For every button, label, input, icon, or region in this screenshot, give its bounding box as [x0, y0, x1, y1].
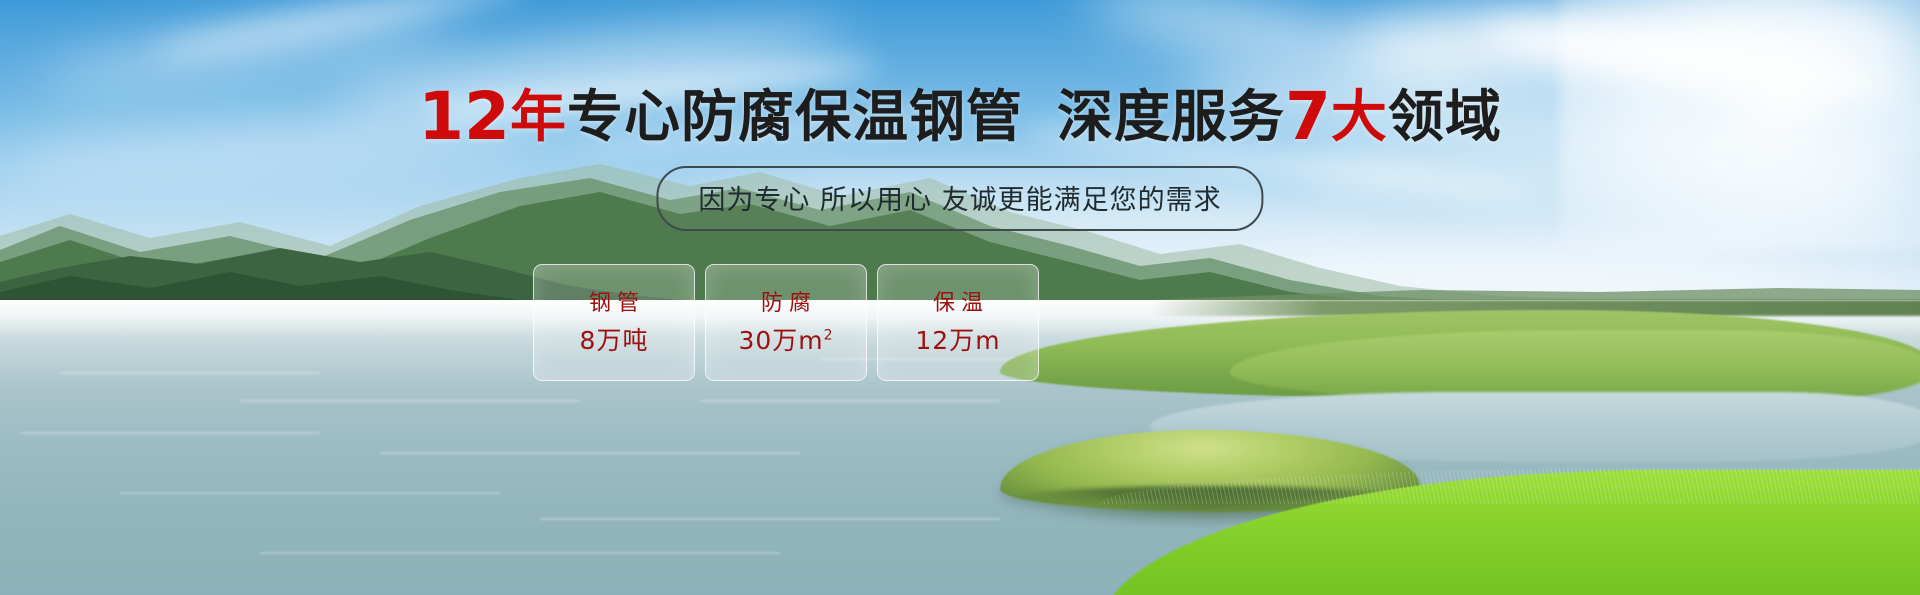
headline-main-text: 专心防腐保温钢管 [567, 85, 1023, 150]
stat-card-anticorrosion[interactable]: 防腐 30万m2 [705, 264, 867, 381]
stat-card-value-text: 12万m [915, 326, 1000, 355]
stat-card-value-text: 8万吨 [580, 326, 649, 355]
headline-service-text: 深度服务 [1057, 85, 1285, 150]
stat-card-value: 30万m2 [738, 328, 833, 353]
headline-years-number: 12 [418, 78, 510, 155]
banner-subtitle-text: 因为专心 所以用心 友诚更能满足您的需求 [698, 185, 1221, 216]
stat-card-group: 钢管 8万吨 防腐 30万m2 保温 12万m [533, 264, 1039, 381]
stat-card-insulation[interactable]: 保温 12万m [877, 264, 1039, 381]
stat-card-value: 8万吨 [580, 328, 649, 353]
stat-card-value: 12万m [915, 328, 1000, 353]
banner-subtitle-pill: 因为专心 所以用心 友诚更能满足您的需求 [656, 166, 1263, 231]
stat-card-label: 防腐 [755, 293, 817, 315]
stat-card-label: 保温 [927, 293, 989, 315]
banner-headline: 12年专心防腐保温钢管深度服务7大领域 [0, 84, 1920, 150]
headline-fields-number: 7 [1285, 78, 1331, 155]
headline-fields-unit: 大 [1331, 85, 1388, 150]
hero-banner: 12年专心防腐保温钢管深度服务7大领域 因为专心 所以用心 友诚更能满足您的需求… [0, 0, 1920, 595]
stat-card-value-text: 30万m [738, 326, 823, 355]
headline-fields-text: 领域 [1388, 85, 1502, 150]
stat-card-value-superscript: 2 [824, 327, 834, 343]
stat-card-steel-pipe[interactable]: 钢管 8万吨 [533, 264, 695, 381]
headline-years-unit: 年 [510, 85, 567, 150]
stat-card-label: 钢管 [583, 293, 645, 315]
